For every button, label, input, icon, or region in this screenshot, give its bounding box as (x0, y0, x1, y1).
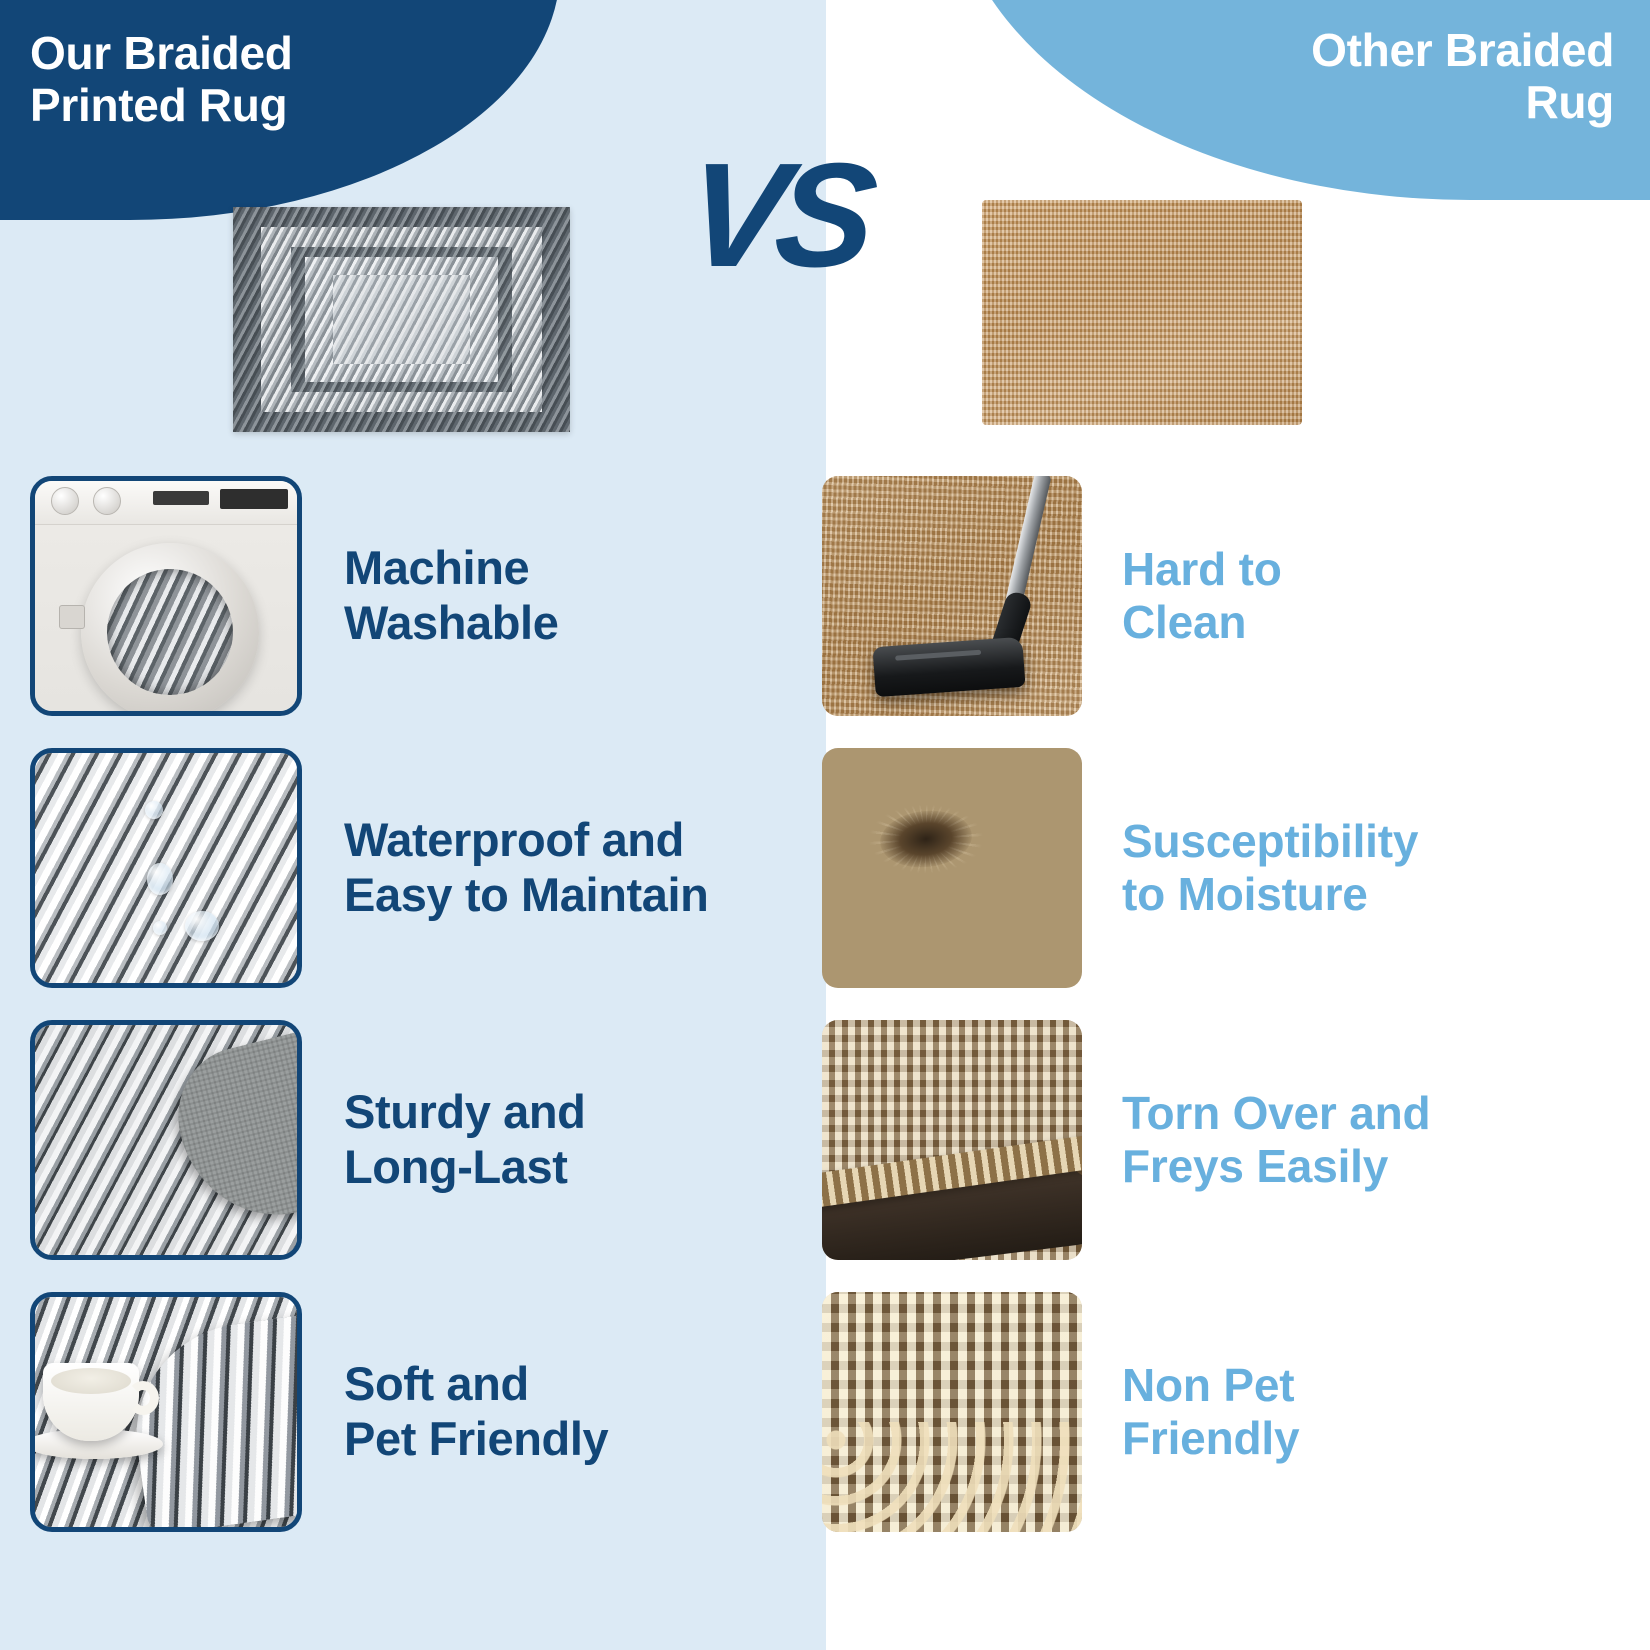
thumbnail-torn-edge (822, 1020, 1082, 1260)
feature-label-right-2: Susceptibility to Moisture (1122, 815, 1418, 922)
feature-row-left-4: Soft and Pet Friendly (30, 1292, 608, 1532)
left-header-title: Our Braided Printed Rug (30, 28, 470, 131)
feature-label-left-3: Sturdy and Long-Last (344, 1085, 585, 1194)
right-header-title: Other Braided Rug (1144, 24, 1614, 129)
thumbnail-washing-machine (30, 476, 302, 716)
feature-row-left-3: Sturdy and Long-Last (30, 1020, 585, 1260)
vs-badge: VS (680, 142, 873, 290)
thumbnail-cup-on-rug (30, 1292, 302, 1532)
feature-row-left-1: Machine Washable (30, 476, 558, 716)
feature-label-left-4: Soft and Pet Friendly (344, 1357, 608, 1466)
feature-row-right-2: Susceptibility to Moisture (822, 748, 1418, 988)
feature-row-left-2: Waterproof and Easy to Maintain (30, 748, 708, 988)
thumbnail-frayed-loops (822, 1292, 1082, 1532)
hero-rug-left-image (233, 207, 570, 432)
hero-rug-right-image (982, 200, 1302, 425)
thumbnail-moisture-damage (822, 748, 1082, 988)
feature-label-right-1: Hard to Clean (1122, 543, 1282, 650)
feature-row-right-4: Non Pet Friendly (822, 1292, 1299, 1532)
feature-label-right-3: Torn Over and Freys Easily (1122, 1087, 1430, 1194)
thumbnail-waterproof-texture (30, 748, 302, 988)
feature-label-left-2: Waterproof and Easy to Maintain (344, 813, 708, 922)
thumbnail-rug-backing (30, 1020, 302, 1260)
feature-label-right-4: Non Pet Friendly (1122, 1359, 1299, 1466)
thumbnail-vacuum-jute (822, 476, 1082, 716)
feature-row-right-1: Hard to Clean (822, 476, 1282, 716)
feature-label-left-1: Machine Washable (344, 541, 558, 650)
feature-row-right-3: Torn Over and Freys Easily (822, 1020, 1430, 1260)
